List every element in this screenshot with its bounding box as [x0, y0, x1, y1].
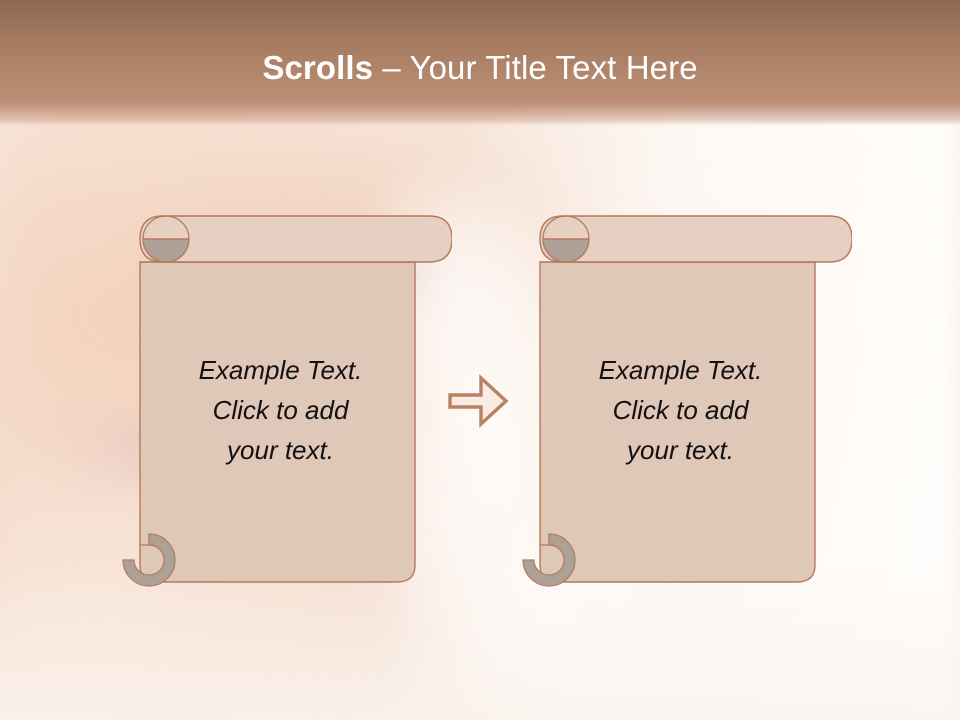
scroll-text-2[interactable]: Example Text. Click to add your text. — [543, 350, 818, 470]
scroll-shape-1[interactable]: Example Text. Click to add your text. — [97, 210, 452, 590]
page-title-bold: Scrolls — [262, 49, 373, 86]
page-title: Scrolls – Your Title Text Here — [0, 48, 960, 88]
slide-canvas: Scrolls – Your Title Text Here Example T… — [0, 0, 960, 720]
scroll-text-1[interactable]: Example Text. Click to add your text. — [143, 350, 418, 470]
page-title-rest: – Your Title Text Here — [373, 49, 698, 86]
scroll-shape-2[interactable]: Example Text. Click to add your text. — [497, 210, 852, 590]
